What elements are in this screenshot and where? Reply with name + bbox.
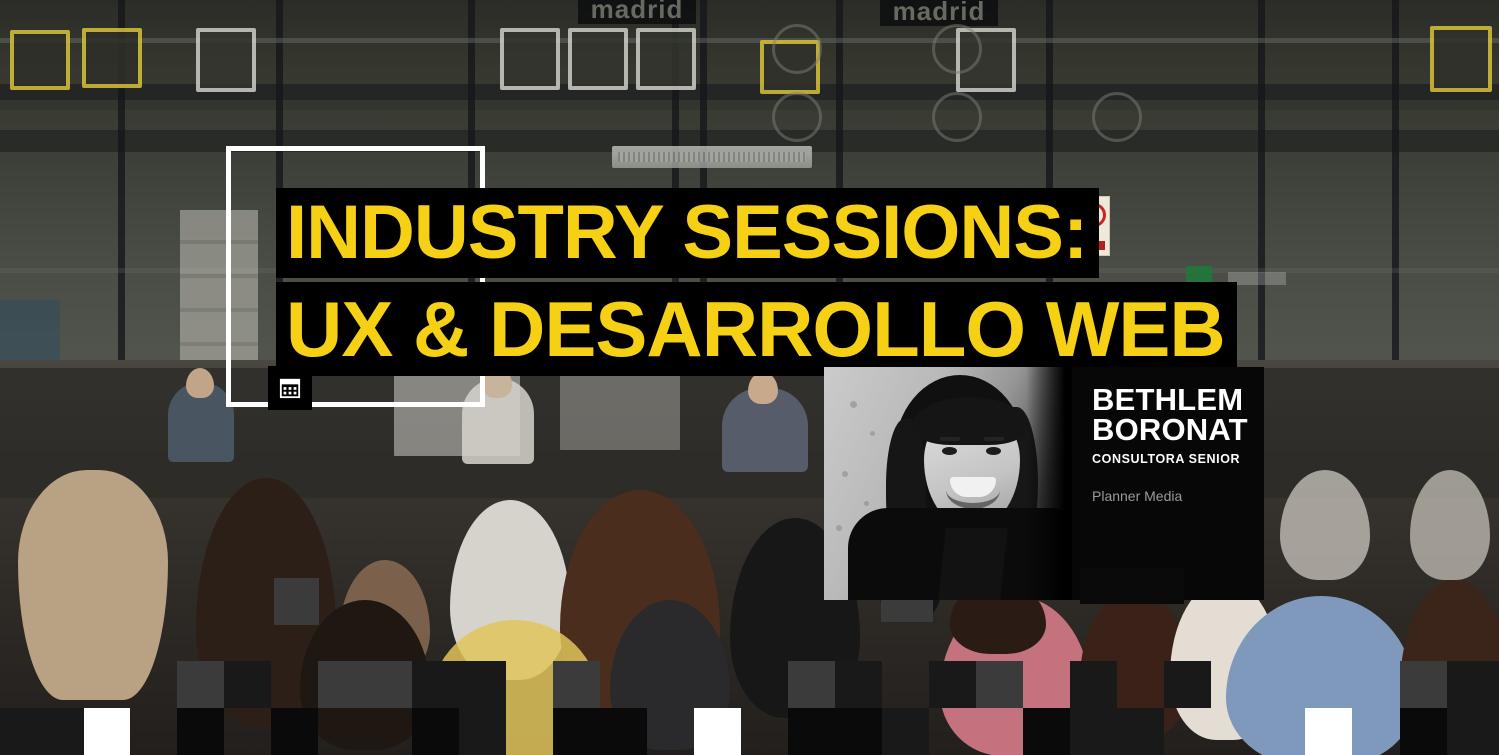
wall-disc xyxy=(932,24,982,74)
slide-canvas: madrid madrid xyxy=(0,0,1499,755)
speaker-first-name: BETHLEM xyxy=(1092,385,1248,415)
ceiling-beam xyxy=(0,100,1499,110)
speaker-card[interactable]: BETHLEM BORONAT CONSULTORA SENIOR Planne… xyxy=(824,367,1264,600)
speaker-company: Planner Media xyxy=(1092,488,1248,504)
chair-silhouette xyxy=(568,28,628,90)
title-line-2: UX & DESARROLLO WEB xyxy=(276,282,1237,376)
wall-disc xyxy=(932,92,982,142)
background-photo: madrid madrid xyxy=(0,0,1499,755)
stage-person-head xyxy=(186,368,214,398)
glass-mullion xyxy=(1258,0,1265,400)
glass-mullion xyxy=(1392,0,1399,400)
chair-silhouette xyxy=(196,28,256,92)
stage-person-head xyxy=(748,372,778,404)
projection-screen xyxy=(560,372,680,450)
venue-signage: madrid xyxy=(578,0,696,24)
speaker-details: BETHLEM BORONAT CONSULTORA SENIOR Planne… xyxy=(1072,367,1268,600)
wall-disc xyxy=(772,24,822,74)
chair-silhouette xyxy=(636,28,696,90)
title-line-1: INDUSTRY SESSIONS: xyxy=(276,188,1099,278)
chair-silhouette xyxy=(10,30,70,90)
exit-sign-icon xyxy=(1186,266,1212,282)
wall-disc xyxy=(1092,92,1142,142)
ceiling-vent xyxy=(612,146,812,168)
venue-signage: madrid xyxy=(880,0,998,26)
chair-silhouette xyxy=(500,28,560,90)
room-label-sign xyxy=(1228,272,1286,285)
calendar-icon-chip[interactable] xyxy=(268,366,312,410)
audience-head xyxy=(18,470,168,700)
chair-silhouette xyxy=(1430,26,1492,92)
speaker-portrait xyxy=(824,367,1072,600)
calendar-icon xyxy=(279,377,301,399)
chair-silhouette xyxy=(82,28,142,88)
speaker-last-name: BORONAT xyxy=(1092,415,1248,445)
speaker-role: CONSULTORA SENIOR xyxy=(1092,452,1248,466)
wall-disc xyxy=(772,92,822,142)
